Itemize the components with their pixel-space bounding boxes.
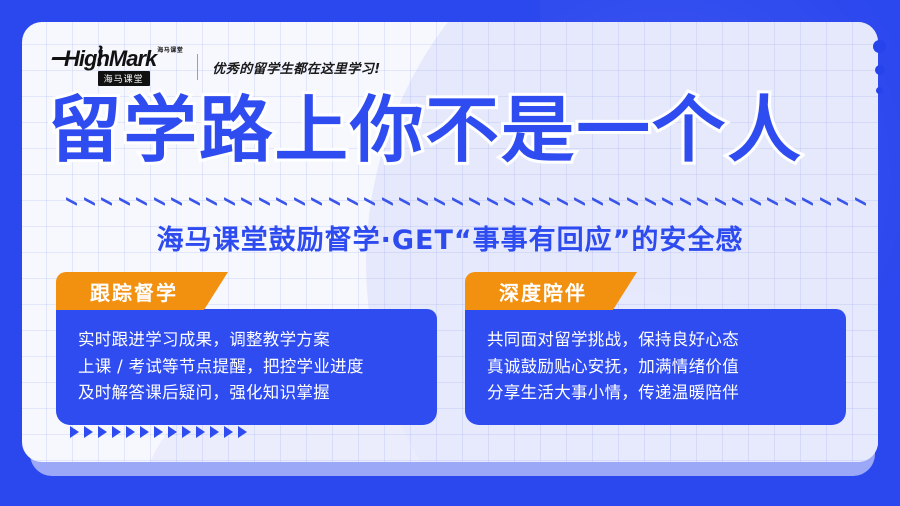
logo-mark: HighMark 海马课堂: [64, 48, 183, 70]
feature-card-tab[interactable]: 深度陪伴: [465, 272, 637, 310]
arrow-marker-icon: [210, 426, 219, 438]
dash-mark: [820, 197, 831, 206]
dash-mark: [785, 197, 796, 206]
arrow-marker-icon: [196, 426, 205, 438]
feature-card-line: 分享生活大事小情，传递温暖陪伴: [487, 380, 846, 407]
dash-mark: [434, 197, 445, 206]
feature-card-body: 共同面对留学挑战，保持良好心态真诚鼓励贴心安抚，加满情绪价值分享生活大事小情，传…: [465, 309, 846, 425]
logo-superscript: 海马课堂: [157, 48, 183, 54]
dash-mark: [189, 197, 200, 206]
feature-card-tab[interactable]: 跟踪督学: [56, 272, 228, 310]
dash-mark: [399, 197, 410, 206]
dash-mark: [364, 197, 375, 206]
arrow-marker-icon: [126, 426, 135, 438]
dash-mark: [539, 197, 550, 206]
dash-mark: [311, 197, 322, 206]
feature-card-body: 实时跟进学习成果，调整教学方案上课 / 考试等节点提醒，把控学业进度及时解答课后…: [56, 309, 437, 425]
arrow-marker-icon: [154, 426, 163, 438]
feature-card: 深度陪伴共同面对留学挑战，保持良好心态真诚鼓励贴心安抚，加满情绪价值分享生活大事…: [465, 272, 846, 425]
dash-mark: [855, 197, 866, 206]
logo-chinese-name: 海马课堂: [98, 71, 150, 86]
feature-card-line: 及时解答课后疑问，强化知识掌握: [78, 380, 437, 407]
dash-mark: [452, 197, 463, 206]
dash-mark: [609, 197, 620, 206]
dot-small: [876, 87, 883, 94]
dash-mark: [101, 197, 112, 206]
header-divider: [197, 54, 198, 80]
dash-mark: [154, 197, 165, 206]
dash-mark: [697, 197, 708, 206]
feature-card: 跟踪督学实时跟进学习成果，调整教学方案上课 / 考试等节点提醒，把控学业进度及时…: [56, 272, 437, 425]
dash-mark: [645, 197, 656, 206]
arrow-marker-icon: [182, 426, 191, 438]
dash-mark: [241, 197, 252, 206]
dash-mark: [715, 197, 726, 206]
logo-dash-icon: [52, 57, 67, 60]
arrow-marker-icon: [70, 426, 79, 438]
dash-mark: [837, 197, 848, 206]
dash-mark: [662, 197, 673, 206]
poster-stage: HighMark 海马课堂 海马课堂 优秀的留学生都在这里学习! 留学路上你不是…: [0, 0, 900, 506]
feature-card-line: 共同面对留学挑战，保持良好心态: [487, 327, 846, 354]
feature-card-line: 实时跟进学习成果，调整教学方案: [78, 327, 437, 354]
dash-mark: [522, 197, 533, 206]
dash-mark: [469, 197, 480, 206]
dash-mark: [557, 197, 568, 206]
feature-cards: 跟踪督学实时跟进学习成果，调整教学方案上课 / 考试等节点提醒，把控学业进度及时…: [56, 272, 846, 425]
dash-mark: [84, 197, 95, 206]
dash-mark: [574, 197, 585, 206]
dash-mark: [680, 197, 691, 206]
dash-mark: [347, 197, 358, 206]
feature-card-line: 上课 / 考试等节点提醒，把控学业进度: [78, 354, 437, 381]
arrow-marker-icon: [224, 426, 233, 438]
arrow-marker-icon: [84, 426, 93, 438]
dash-mark: [329, 197, 340, 206]
arrow-marker-icon: [140, 426, 149, 438]
arrow-marker-icon: [238, 426, 247, 438]
dash-mark: [382, 197, 393, 206]
arrow-marker-icon: [98, 426, 107, 438]
dash-mark: [767, 197, 778, 206]
page-title: 留学路上你不是一个人: [48, 94, 874, 166]
dash-mark: [276, 197, 287, 206]
dashed-divider: [66, 194, 866, 208]
dash-mark: [136, 197, 147, 206]
page-subtitle: 海马课堂鼓励督学·GET“事事有回应”的安全感: [22, 218, 878, 257]
dash-mark: [750, 197, 761, 206]
dash-mark: [802, 197, 813, 206]
brand-header: HighMark 海马课堂 海马课堂 优秀的留学生都在这里学习!: [64, 48, 381, 86]
dash-mark: [417, 197, 428, 206]
white-panel: HighMark 海马课堂 海马课堂 优秀的留学生都在这里学习! 留学路上你不是…: [22, 22, 878, 462]
brand-tagline: 优秀的留学生都在这里学习!: [212, 58, 380, 77]
dash-mark: [119, 197, 130, 206]
dash-mark: [206, 197, 217, 206]
dash-mark: [592, 197, 603, 206]
dash-mark: [627, 197, 638, 206]
dash-mark: [487, 197, 498, 206]
arrow-marker-icon: [112, 426, 121, 438]
dash-mark: [732, 197, 743, 206]
feature-card-line: 真诚鼓励贴心安抚，加满情绪价值: [487, 354, 846, 381]
logo: HighMark 海马课堂 海马课堂: [64, 48, 183, 86]
seahorse-icon: [95, 45, 104, 67]
dash-mark: [224, 197, 235, 206]
dash-mark: [504, 197, 515, 206]
decorative-arrows: [70, 426, 247, 438]
decorative-dots: [873, 40, 886, 94]
dash-mark: [294, 197, 305, 206]
dash-mark: [66, 197, 77, 206]
dash-mark: [259, 197, 270, 206]
dot-large: [873, 40, 886, 53]
arrow-marker-icon: [168, 426, 177, 438]
dot-medium: [875, 65, 885, 75]
logo-wordmark: HighMark: [64, 48, 156, 70]
dash-mark: [171, 197, 182, 206]
